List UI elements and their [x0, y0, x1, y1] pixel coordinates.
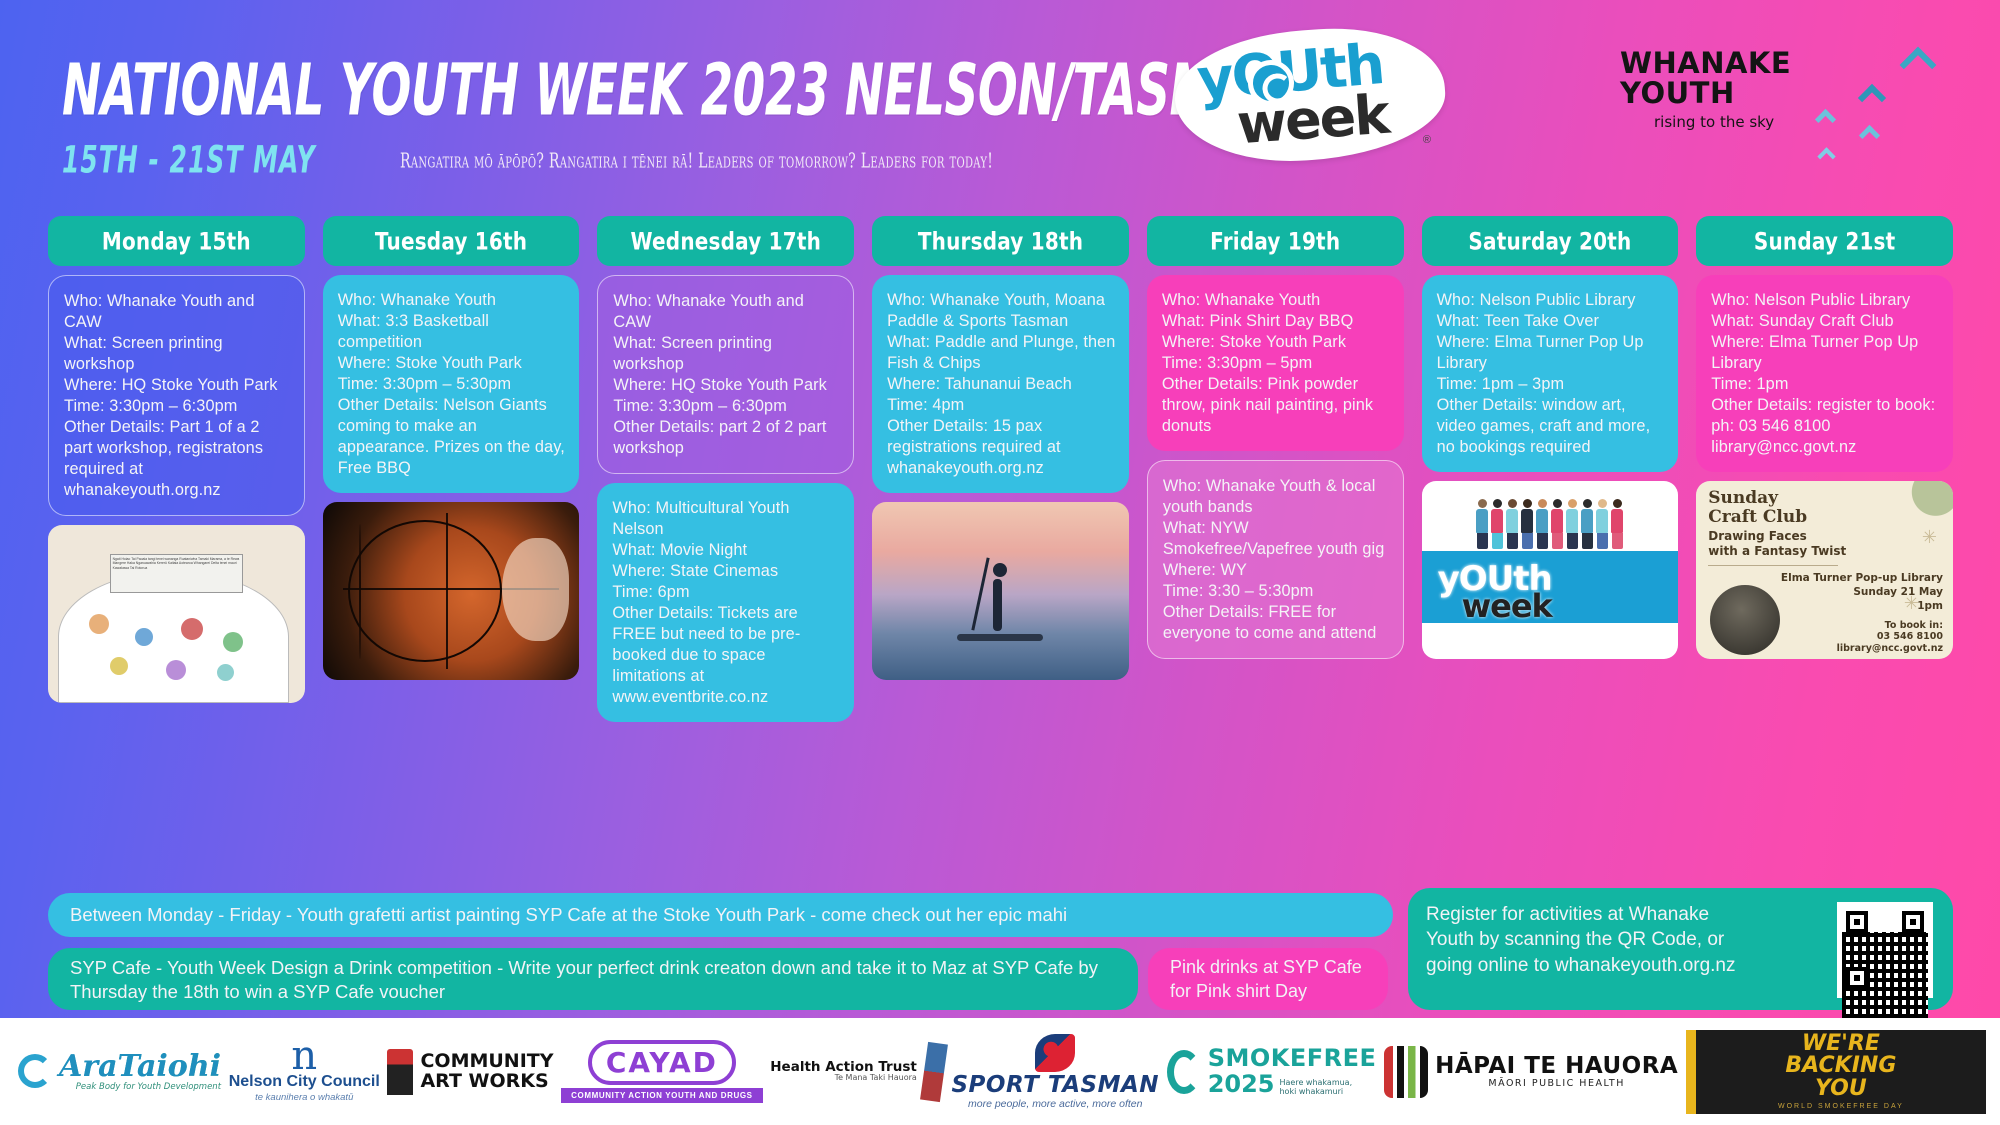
banner-graffiti-artist: Between Monday - Friday - Youth grafetti…: [48, 893, 1393, 937]
event-card: Who: Whanake Youth What: 3:3 Basketball …: [323, 275, 580, 493]
sponsor-name: SMOKEFREE: [1208, 1046, 1377, 1071]
sponsor-tagline: Te Mana Taki Hauora: [770, 1074, 917, 1082]
event-card: Who: Whanake Youth What: Pink Shirt Day …: [1147, 275, 1404, 451]
day-header-monday[interactable]: Monday 15th: [48, 216, 305, 266]
sponsor-logo-community-art-works: COMMUNITY ART WORKS: [387, 1049, 553, 1095]
day-header-tuesday[interactable]: Tuesday 16th: [323, 216, 580, 266]
day-label: Monday 15th: [102, 227, 251, 255]
sponsor-logo-health-action-trust: Health Action Trust Te Mana Taki Hauora: [770, 1043, 944, 1101]
chevron-up-icon: [1817, 147, 1835, 165]
sponsor-tagline: COMMUNITY ACTION YOUTH AND DRUGS: [561, 1088, 762, 1103]
sponsor-name: CAYAD: [588, 1040, 736, 1085]
sponsor-name: HĀPAI TE HAUORA: [1435, 1054, 1678, 1078]
sponsor-tagline: te kaunihera o whakatū: [255, 1092, 353, 1103]
week-grid: Monday 15th Who: Whanake Youth and CAW W…: [48, 216, 1953, 876]
sponsor-name: COMMUNITY: [420, 1052, 553, 1072]
sponsor-name: WE'RE BACKING YOU: [1778, 1033, 1904, 1100]
day-column-saturday: Saturday 20th Who: Nelson Public Library…: [1422, 216, 1679, 876]
sponsor-tagline: WORLD SMOKEFREE DAY: [1778, 1103, 1904, 1110]
qr-code[interactable]: [1837, 902, 1933, 998]
sponsor-logo-ara-taiohi: AraTaiohi Peak Body for Youth Developmen…: [18, 1051, 221, 1091]
sponsor-name: AraTaiohi: [59, 1051, 221, 1083]
banner-syp-cafe-competition: SYP Cafe - Youth Week Design a Drink com…: [48, 948, 1138, 1010]
day-header-sunday[interactable]: Sunday 21st: [1696, 216, 1953, 266]
day-column-tuesday: Tuesday 16th Who: Whanake Youth What: 3:…: [323, 216, 580, 876]
register-text: Register for activities at Whanake Youth…: [1426, 902, 1756, 978]
craft-flyer-subtitle: Drawing Faces with a Fantasy Twist: [1708, 529, 1846, 559]
day-header-friday[interactable]: Friday 19th: [1147, 216, 1404, 266]
sponsor-tagline: Haere whakamua, hoki whakamuri: [1279, 1078, 1352, 1097]
day-column-wednesday: Wednesday 17th Who: Whanake Youth and CA…: [597, 216, 854, 876]
whanake-logo-line1: WHANAKE: [1620, 48, 1850, 78]
tagline: Rangatira mō āpōpō? Rangatira i tēnei rā…: [400, 150, 993, 173]
koru-swirl-icon: [18, 1054, 52, 1088]
sponsor-logo-cayad: CAYAD COMMUNITY ACTION YOUTH AND DRUGS: [561, 1040, 762, 1103]
sponsor-logo-nelson-city-council: n Nelson City Council te kaunihera o wha…: [229, 1040, 380, 1103]
sponsor-name: Health Action Trust: [770, 1060, 917, 1074]
whanake-logo-line2: YOUTH: [1620, 78, 1850, 108]
hoe-paddle-icon: [920, 1041, 948, 1101]
chevron-up-icon: [1858, 84, 1886, 112]
sponsor-footer: AraTaiohi Peak Body for Youth Developmen…: [0, 1018, 2000, 1125]
screen-print-artwork-photo: Ngati Hoiao Tai Paoaia tangi tenei wanan…: [48, 525, 305, 703]
day-column-thursday: Thursday 18th Who: Whanake Youth, Moana …: [872, 216, 1129, 876]
sunday-craft-club-flyer: Sunday Craft Club Drawing Faces with a F…: [1696, 481, 1953, 659]
event-card: Who: Whanake Youth, Moana Paddle & Sport…: [872, 275, 1129, 493]
day-label: Wednesday 17th: [630, 227, 821, 255]
sponsor-tagline: Peak Body for Youth Development: [59, 1083, 221, 1092]
craft-flyer-illustration: [1710, 585, 1780, 655]
youth-week-logo: yOUth week ®: [1175, 30, 1445, 160]
sponsor-name: Nelson City Council: [229, 1073, 380, 1091]
day-header-wednesday[interactable]: Wednesday 17th: [597, 216, 854, 266]
banner-pink-drinks: Pink drinks at SYP Cafe for Pink shirt D…: [1148, 948, 1388, 1010]
youth-week-tile-word2: week: [1462, 587, 1552, 625]
sponsor-logo-sport-tasman: SPORT TASMAN more people, more active, m…: [951, 1034, 1159, 1110]
smokefree-swirl-icon: [1167, 1050, 1201, 1094]
hapai-mark-icon: [1384, 1046, 1428, 1098]
sponsor-year: 2025: [1208, 1072, 1275, 1097]
poster-header: NATIONAL YOUTH WEEK 2023 NELSON/TASMAN 1…: [0, 0, 2000, 205]
youth-week-logo-word2: week: [1235, 83, 1390, 156]
sparkle-icon: ✳: [1922, 527, 1937, 548]
day-column-monday: Monday 15th Who: Whanake Youth and CAW W…: [48, 216, 305, 876]
divider: [1708, 565, 1838, 566]
youth-week-group-graphic: yOUth week: [1422, 481, 1679, 659]
event-card: Who: Whanake Youth and CAW What: Screen …: [597, 275, 854, 474]
sponsor-tagline: more people, more active, more often: [968, 1098, 1143, 1110]
sponsor-logo-hapai-te-hauora: HĀPAI TE HAUORA MĀORI PUBLIC HEALTH: [1384, 1046, 1678, 1098]
day-label: Friday 19th: [1210, 227, 1340, 255]
event-card: Who: Whanake Youth and CAW What: Screen …: [48, 275, 305, 516]
chevron-up-icon: [1900, 47, 1937, 84]
day-column-friday: Friday 19th Who: Whanake Youth What: Pin…: [1147, 216, 1404, 876]
day-label: Thursday 18th: [918, 227, 1083, 255]
sponsor-name: SPORT TASMAN: [951, 1072, 1159, 1098]
sponsor-name-line2: ART WORKS: [420, 1072, 553, 1092]
event-card: Who: Whanake Youth & local youth bands W…: [1147, 460, 1404, 659]
paddleboard-sunset-photo: [872, 502, 1129, 680]
day-label: Saturday 20th: [1468, 227, 1631, 255]
page-title: NATIONAL YOUTH WEEK 2023 NELSON/TASMAN: [62, 48, 1290, 132]
craft-flyer-title: Sunday Craft Club: [1708, 489, 1807, 527]
day-column-sunday: Sunday 21st Who: Nelson Public Library W…: [1696, 216, 1953, 876]
chevron-up-icon: [1859, 125, 1880, 146]
craft-flyer-booking: To book in: 03 546 8100 library@ncc.govt…: [1837, 620, 1943, 656]
day-label: Tuesday 16th: [375, 227, 527, 255]
date-range: 15TH - 21ST MAY: [62, 138, 316, 182]
running-figure-icon: [1035, 1034, 1075, 1072]
event-card: Who: Nelson Public Library What: Sunday …: [1696, 275, 1953, 472]
basketball-photo: [323, 502, 580, 680]
ncc-mark-icon: n: [291, 1040, 317, 1072]
registered-trademark-icon: ®: [1423, 134, 1431, 146]
paintbrush-figure-icon: [387, 1049, 413, 1095]
event-card: Who: Nelson Public Library What: Teen Ta…: [1422, 275, 1679, 472]
day-header-saturday[interactable]: Saturday 20th: [1422, 216, 1679, 266]
event-card: Who: Multicultural Youth Nelson What: Mo…: [597, 483, 854, 722]
day-header-thursday[interactable]: Thursday 18th: [872, 216, 1129, 266]
sponsor-tagline: MĀORI PUBLIC HEALTH: [1435, 1079, 1678, 1089]
sponsor-logo-were-backing-you: WE'RE BACKING YOU WORLD SMOKEFREE DAY: [1686, 1030, 1986, 1114]
group-of-people-icon: [1422, 489, 1679, 549]
sparkle-icon: ✳: [1904, 593, 1919, 614]
banner-register: Register for activities at Whanake Youth…: [1408, 888, 1953, 1010]
paddleboard-icon: [957, 634, 1043, 641]
paddler-silhouette-icon: [993, 563, 1007, 631]
day-label: Sunday 21st: [1754, 227, 1896, 255]
sponsor-logo-smokefree-2025: SMOKEFREE 2025 Haere whakamua, hoki whak…: [1167, 1046, 1377, 1096]
